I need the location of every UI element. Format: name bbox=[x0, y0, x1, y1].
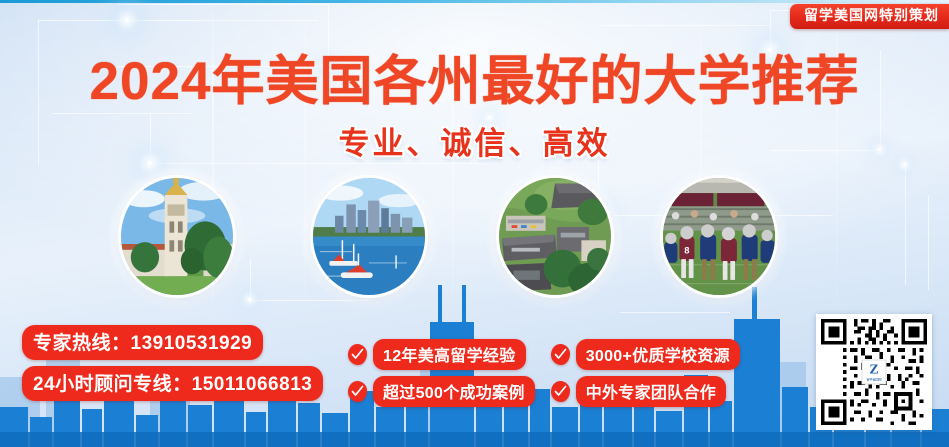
qr-logo-letter: Z bbox=[869, 363, 878, 377]
feature-label: 12年美高留学经验 bbox=[373, 339, 526, 370]
feature-label: 中外专家团队合作 bbox=[576, 376, 726, 407]
feature-list: 12年美高留学经验 3000+优质学校资源 超过500个成功案例 中外专家团队合… bbox=[348, 339, 740, 407]
check-icon bbox=[551, 381, 570, 402]
contact-24h-line: 24小时顾问专线：15011066813 bbox=[22, 366, 323, 401]
qr-center-logo: Z 留学美国网 bbox=[862, 360, 887, 385]
qr-logo-tagline: 留学美国网 bbox=[866, 378, 881, 381]
page-subtitle: 专业、诚信、高效 bbox=[0, 118, 949, 163]
photo-gallery: 8 bbox=[0, 175, 949, 300]
contact-hotline: 专家热线：13910531929 bbox=[22, 325, 263, 360]
photo-football-game: 8 bbox=[660, 175, 778, 298]
check-icon bbox=[551, 344, 570, 365]
feature-label: 3000+优质学校资源 bbox=[576, 339, 740, 370]
svg-text:8: 8 bbox=[684, 244, 689, 255]
promotional-banner: 留学美国网特别策划 2024年美国各州最好的大学推荐 专业、诚信、高效 bbox=[0, 0, 949, 447]
photo-campus-bell-tower bbox=[118, 175, 236, 298]
check-icon bbox=[348, 381, 367, 402]
page-title: 2024年美国各州最好的大学推荐 bbox=[0, 39, 949, 115]
photo-waterfront-city bbox=[310, 175, 428, 298]
contact-info: 专家热线：13910531929 24小时顾问专线：15011066813 bbox=[22, 325, 323, 407]
ribbon-badge: 留学美国网特别策划 bbox=[790, 4, 949, 29]
feature-item: 超过500个成功案例 bbox=[348, 376, 535, 407]
feature-label: 超过500个成功案例 bbox=[373, 376, 535, 407]
feature-item: 中外专家团队合作 bbox=[551, 376, 740, 407]
photo-aerial-campus bbox=[496, 175, 614, 298]
top-accent-line bbox=[0, 0, 949, 3]
check-icon bbox=[348, 344, 367, 365]
feature-item: 12年美高留学经验 bbox=[348, 339, 535, 370]
feature-item: 3000+优质学校资源 bbox=[551, 339, 740, 370]
qr-code[interactable]: Z 留学美国网 bbox=[816, 314, 932, 430]
